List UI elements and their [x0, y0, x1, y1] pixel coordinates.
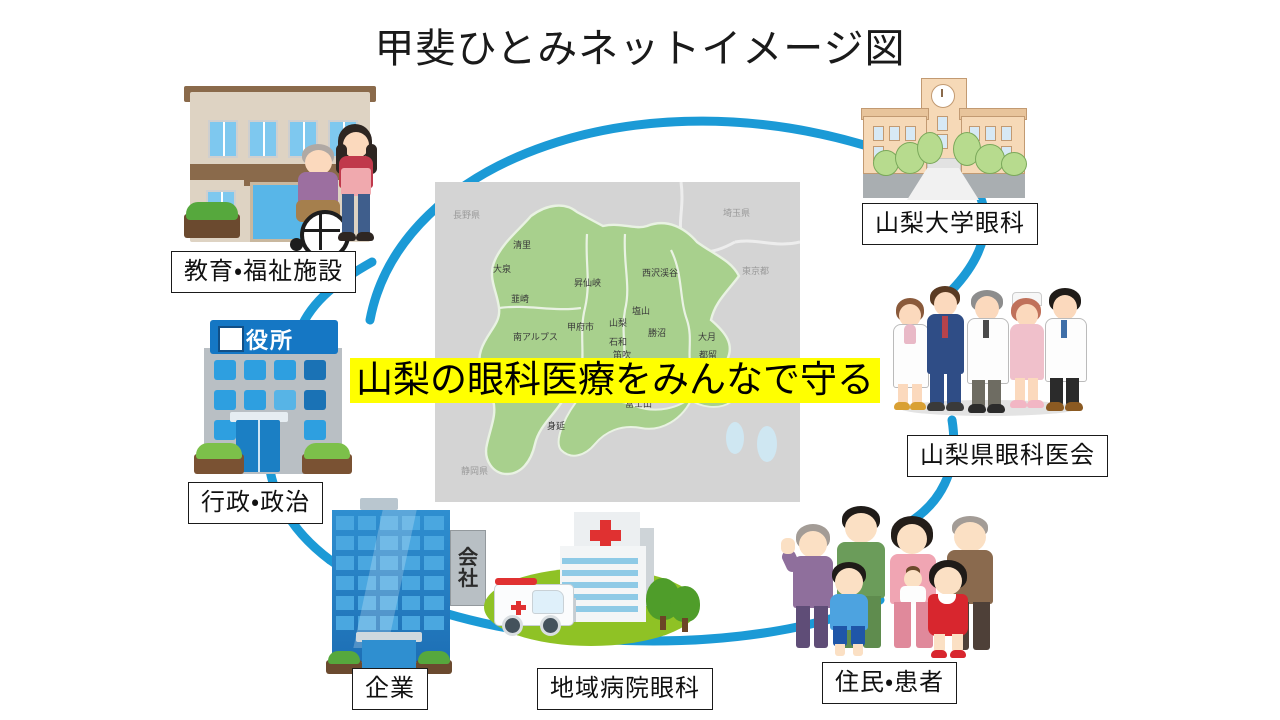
map-city-label: 石和 [609, 335, 627, 348]
tree-icon [670, 586, 700, 622]
city-hall-sign: 役所 [210, 320, 338, 354]
yamanashi-map: 長野県 埼玉県 東京都 静岡県 清里 大泉 韮崎 昇仙峡 西沢渓谷 塩山 甲府市… [435, 182, 800, 502]
map-city-label: 韮崎 [511, 292, 529, 305]
node-label-hospital[interactable]: 地域病院眼科 [537, 668, 713, 710]
map-pref-label: 埼玉県 [723, 206, 750, 219]
doctor-figure [965, 290, 1011, 416]
family-residents-illustration [786, 500, 1002, 662]
node-label-association[interactable]: 山梨県眼科医会 [907, 435, 1108, 477]
map-city-label: 甲府市 [567, 320, 594, 333]
map-city-label: 西沢渓谷 [642, 266, 678, 279]
node-label-welfare[interactable]: 教育・福祉施設 [171, 251, 356, 293]
map-city-label: 身延 [547, 419, 565, 432]
clock-icon [931, 84, 955, 108]
welfare-facility-illustration [172, 82, 392, 252]
map-city-label: 大泉 [493, 262, 511, 275]
company-tower-illustration: 会 社 [312, 492, 498, 682]
government-office-illustration: 役所 [182, 312, 366, 484]
map-city-label: 清里 [513, 238, 531, 251]
slide-canvas: 甲斐ひとみネットイメージ図 [0, 0, 1280, 720]
map-pref-label: 長野県 [453, 208, 480, 221]
center-slogan-banner: 山梨の眼科医療をみんなで守る [350, 358, 880, 403]
tree-icon [975, 144, 1005, 174]
map-city-label: 勝沼 [648, 326, 666, 339]
official-suit-figure [925, 286, 969, 414]
node-label-company[interactable]: 企業 [352, 668, 428, 710]
company-sign-char-2: 社 [458, 568, 478, 589]
node-label-university[interactable]: 山梨大学眼科 [862, 203, 1038, 245]
hospital-illustration [478, 500, 710, 660]
tree-icon [1001, 152, 1027, 176]
map-pref-label: 静岡県 [461, 464, 488, 477]
map-city-label: 南アルプス [513, 330, 558, 343]
node-label-government[interactable]: 行政・政治 [188, 482, 323, 524]
node-label-residents[interactable]: 住民・患者 [822, 662, 957, 704]
boy-figure [828, 562, 874, 660]
map-city-label: 塩山 [632, 304, 650, 317]
map-pref-label: 東京都 [742, 264, 769, 277]
caregiver-figure [334, 124, 380, 252]
company-sign-char-1: 会 [458, 547, 478, 568]
doctor-figure [1043, 288, 1089, 416]
doctors-group-illustration [885, 272, 1095, 422]
map-city-label: 大月 [698, 330, 716, 343]
sign-blank-box [218, 326, 244, 352]
girl-figure [926, 560, 974, 660]
sign-text: 役所 [246, 323, 294, 355]
map-city-label: 山梨 [609, 316, 627, 329]
map-city-label: 昇仙峡 [574, 276, 601, 289]
university-illustration [855, 72, 1035, 202]
tree-icon [917, 132, 943, 164]
